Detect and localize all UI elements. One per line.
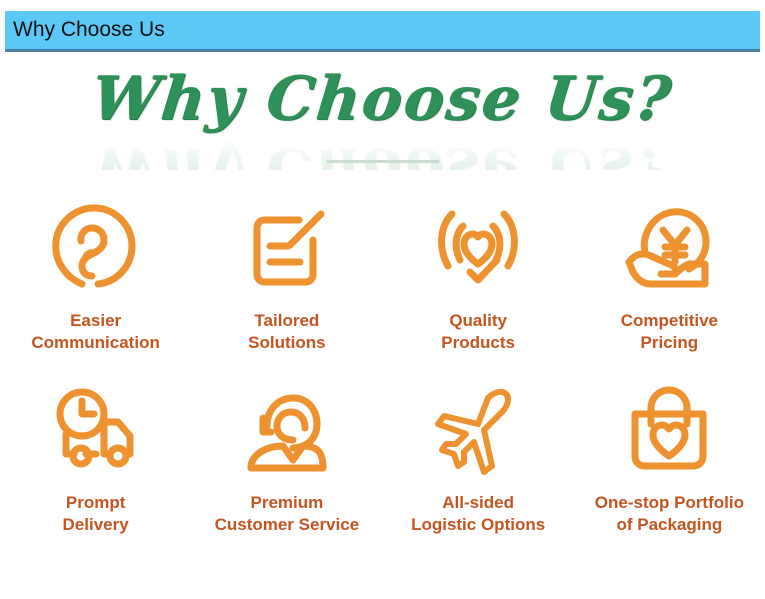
feature-label: Easier Communication (31, 310, 159, 354)
feature-label: All-sided Logistic Options (411, 492, 545, 536)
hero-section: Why Choose Us? Why Choose Us? (0, 60, 765, 170)
feature-item-one-stop-portfolio-of-packaging[interactable]: One-stop Portfolio of Packaging (574, 378, 765, 536)
shopping-bag-heart-icon (617, 378, 721, 482)
feature-label: One-stop Portfolio of Packaging (595, 492, 744, 536)
document-pen-icon (235, 196, 339, 300)
feature-item-prompt-delivery[interactable]: Prompt Delivery (0, 378, 191, 536)
feature-label: Tailored Solutions (248, 310, 325, 354)
feature-item-competitive-pricing[interactable]: Competitive Pricing (574, 196, 765, 354)
ear-in-circle-icon (44, 196, 148, 300)
feature-label: Competitive Pricing (621, 310, 718, 354)
delivery-truck-clock-icon (44, 378, 148, 482)
feature-label: Premium Customer Service (215, 492, 360, 536)
feature-item-all-sided-logistic-options[interactable]: All-sided Logistic Options (383, 378, 574, 536)
window-header-bar: Why Choose Us (5, 11, 760, 52)
feature-item-easier-communication[interactable]: Easier Communication (0, 196, 191, 354)
hero-title: Why Choose Us? (88, 60, 676, 138)
heart-waves-check-icon (426, 196, 530, 300)
feature-item-quality-products[interactable]: Quality Products (383, 196, 574, 354)
feature-label: Prompt Delivery (63, 492, 129, 536)
hand-yen-coin-icon (617, 196, 721, 300)
feature-item-premium-customer-service[interactable]: Premium Customer Service (191, 378, 382, 536)
airplane-icon (426, 378, 530, 482)
page-title: Why Choose Us (5, 18, 165, 42)
hero-title-wrap: Why Choose Us? (0, 60, 765, 138)
feature-item-tailored-solutions[interactable]: Tailored Solutions (191, 196, 382, 354)
feature-grid: Easier Communication Tailored Solutions (0, 196, 765, 536)
feature-label: Quality Products (441, 310, 515, 354)
feature-row: Prompt Delivery Premium Customer Service… (0, 378, 765, 536)
hero-divider (326, 160, 439, 163)
feature-row: Easier Communication Tailored Solutions (0, 196, 765, 354)
headset-person-icon (235, 378, 339, 482)
